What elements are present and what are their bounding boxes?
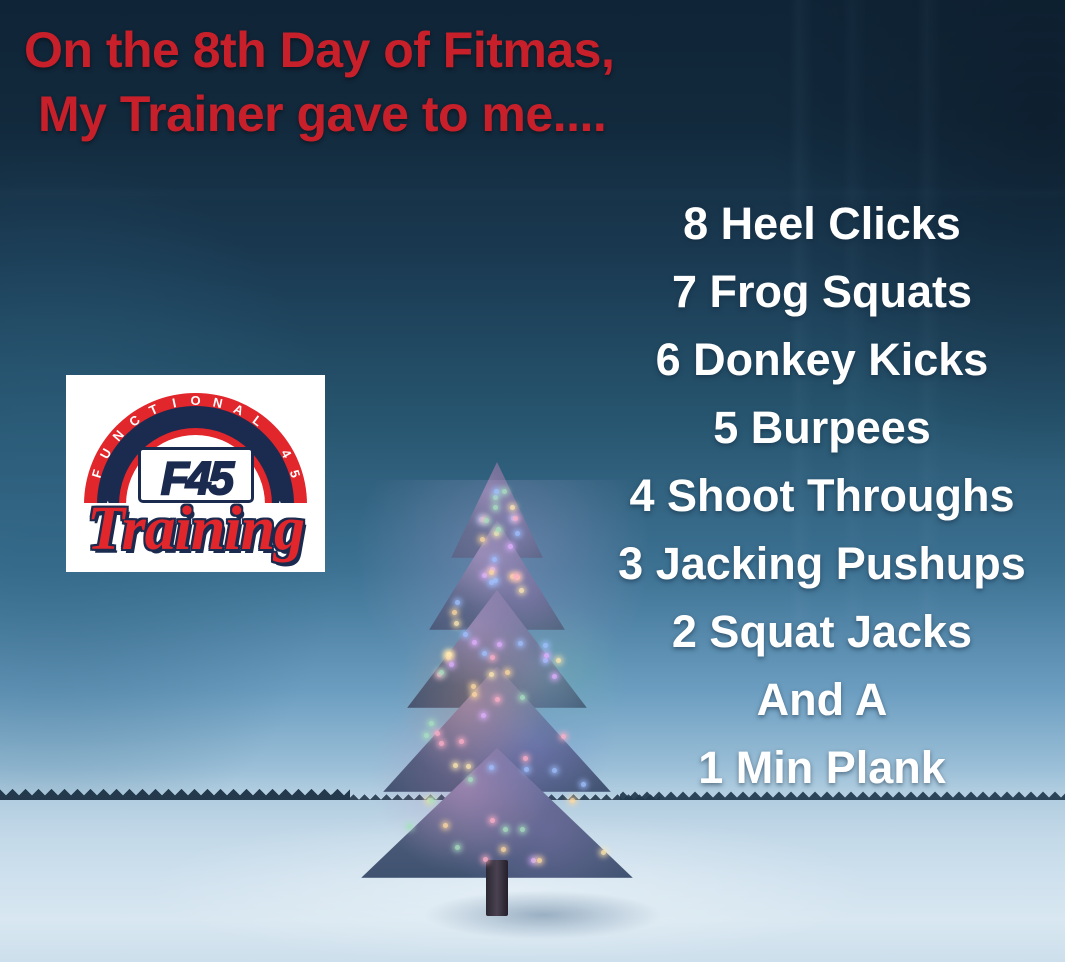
workout-line: 6 Donkey Kicks [587,326,1057,394]
tree-light [570,798,575,803]
workout-line: 1 Min Plank [587,734,1057,802]
workout-line: 3 Jacking Pushups [587,530,1057,598]
workout-list: 8 Heel Clicks7 Frog Squats6 Donkey Kicks… [587,190,1057,802]
fitmas-poster: On the 8th Day of Fitmas, My Trainer gav… [0,0,1065,962]
workout-line: And A [587,666,1057,734]
f45-logo: FUNCTIONAL 45 ★ ★ F45 Training [66,375,325,572]
tree-light [424,733,429,738]
headline-line-2: My Trainer gave to me.... [0,82,800,146]
workout-line: 7 Frog Squats [587,258,1057,326]
tree-light [429,721,434,726]
headline-line-1: On the 8th Day of Fitmas, [0,18,800,82]
tree-light [407,824,412,829]
workout-line: 2 Squat Jacks [587,598,1057,666]
tree-light [429,798,434,803]
tree-light [543,643,548,648]
workout-line: 8 Heel Clicks [587,190,1057,258]
workout-line: 5 Burpees [587,394,1057,462]
f45-logo-inner: FUNCTIONAL 45 ★ ★ F45 Training [66,375,325,572]
logo-wordmark: Training [76,493,315,565]
tree-trunk [486,860,508,916]
page-title: On the 8th Day of Fitmas, My Trainer gav… [0,18,800,146]
tree-light [427,798,432,803]
workout-line: 4 Shoot Throughs [587,462,1057,530]
tree-light [556,658,561,663]
